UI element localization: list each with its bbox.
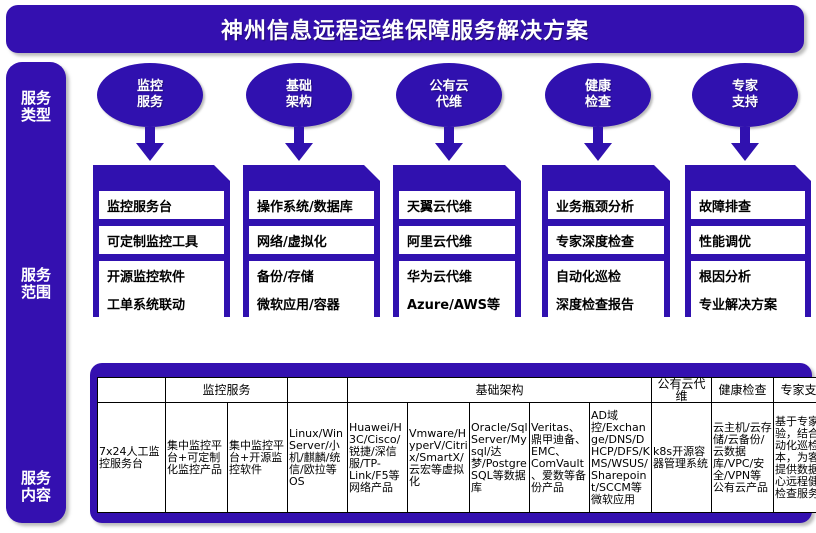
scope-item[interactable]: 可定制监控工具 xyxy=(99,226,224,254)
scope-item[interactable]: 监控服务台 xyxy=(99,191,224,219)
rail-label-line1: 服务 xyxy=(6,470,66,487)
scope-box-1: 操作系统/数据库网络/虚拟化备份/存储微软应用/容器 xyxy=(243,165,380,317)
category-label-line1: 专家 xyxy=(732,79,758,95)
scope-item-label: 操作系统/数据库 xyxy=(257,196,353,215)
arrow-head xyxy=(435,143,463,161)
scope-item[interactable]: 备份/存储 xyxy=(249,261,374,289)
scope-item[interactable]: 操作系统/数据库 xyxy=(249,191,374,219)
arrow-head xyxy=(285,143,313,161)
scope-item-label: Azure/AWS等 xyxy=(407,294,500,313)
table-cell: AD域控/Exchange/DNS/DHCP/DFS/KMS/WSUS/Shar… xyxy=(590,403,652,513)
page-title-banner: 神州信息远程运维保障服务解决方案 xyxy=(6,5,804,53)
category-label-line2: 支持 xyxy=(732,95,758,111)
flow-arrow-3 xyxy=(584,127,612,161)
flow-arrow-2 xyxy=(435,127,463,161)
table-row: 7x24人工监控服务台集中监控平台+可定制化监控产品集中监控平台+开源监控软件L… xyxy=(98,403,816,513)
scope-item-label: 工单系统联动 xyxy=(107,294,185,313)
arrow-head xyxy=(136,143,164,161)
scope-item[interactable]: 故障排查 xyxy=(691,191,805,219)
scope-box-2: 天翼云代维阿里云代维华为云代维Azure/AWS等 xyxy=(393,165,521,317)
category-label-line1: 基础 xyxy=(286,79,312,95)
table-cell: Linux/WinServer/小机/麒麟/统信/欧拉等OS xyxy=(288,403,348,513)
table-group-header: 基础架构 xyxy=(348,378,652,403)
table-header-row: 监控服务基础架构公有云代维健康检查专家支持 xyxy=(98,378,816,403)
scope-item-label: 天翼云代维 xyxy=(407,196,472,215)
rail-label-line2: 类型 xyxy=(6,107,66,124)
rail-label-service-content: 服务 内容 xyxy=(6,470,66,504)
table-cell: 基于专家经验，结合自动化巡检脚本，为客户提供数据中心远程健康检查服务 xyxy=(774,403,816,513)
rail-label-line1: 服务 xyxy=(6,267,66,284)
table-group-header-blank xyxy=(98,378,166,403)
category-ellipse-4[interactable]: 专家支持 xyxy=(692,63,798,127)
scope-item[interactable]: 微软应用/容器 xyxy=(249,289,374,317)
table-cell: Oracle/SqlServer/Mysql/达梦/PostgreSQL等数据库 xyxy=(470,403,530,513)
flow-arrow-4 xyxy=(731,127,759,161)
flow-arrow-1 xyxy=(285,127,313,161)
table-group-header-blank xyxy=(288,378,348,403)
scope-item-label: 监控服务台 xyxy=(107,196,172,215)
scope-item[interactable]: 天翼云代维 xyxy=(399,191,515,219)
table-cell: Vmware/HyperV/Citrix/SmartX/云宏等虚拟化 xyxy=(408,403,470,513)
scope-item-label: 性能调优 xyxy=(699,231,751,250)
scope-item-label: 故障排查 xyxy=(699,196,751,215)
scope-box-0: 监控服务台可定制监控工具开源监控软件工单系统联动 xyxy=(93,165,230,317)
service-content-table: 监控服务基础架构公有云代维健康检查专家支持7x24人工监控服务台集中监控平台+可… xyxy=(97,377,816,513)
category-label-line2: 架构 xyxy=(286,95,312,111)
category-label-line2: 服务 xyxy=(137,95,163,111)
scope-item[interactable]: 业务瓶颈分析 xyxy=(548,191,664,219)
table-cell: 云主机/云存储/云备份/云数据库/VPC/安全/VPN等公有云产品 xyxy=(712,403,774,513)
scope-item-label: 业务瓶颈分析 xyxy=(556,196,634,215)
scope-item-label: 专业解决方案 xyxy=(699,294,777,313)
category-label-line1: 健康 xyxy=(585,79,611,95)
category-label-line2: 代维 xyxy=(436,95,462,111)
scope-item[interactable]: 华为云代维 xyxy=(399,261,515,289)
scope-item[interactable]: 开源监控软件 xyxy=(99,261,224,289)
scope-item-label: 微软应用/容器 xyxy=(257,294,340,313)
category-label-line2: 检查 xyxy=(585,95,611,111)
scope-item-label: 阿里云代维 xyxy=(407,231,472,250)
rail-label-line2: 内容 xyxy=(6,487,66,504)
scope-item-label: 深度检查报告 xyxy=(556,294,634,313)
scope-item[interactable]: 阿里云代维 xyxy=(399,226,515,254)
scope-item-label: 可定制监控工具 xyxy=(107,231,198,250)
scope-item[interactable]: Azure/AWS等 xyxy=(399,289,515,317)
scope-item[interactable]: 性能调优 xyxy=(691,226,805,254)
table-cell: 7x24人工监控服务台 xyxy=(98,403,166,513)
table-cell: Huawei/H3C/Cisco/锐捷/深信服/TP-Link/F5等网络产品 xyxy=(348,403,408,513)
scope-item-label: 专家深度检查 xyxy=(556,231,634,250)
scope-item-label: 网络/虚拟化 xyxy=(257,231,327,250)
left-rail: 服务 类型 服务 范围 服务 内容 xyxy=(6,62,66,523)
table-cell: Veritas、鼎甲迪备、EMC、ComVault、爱数等备份产品 xyxy=(530,403,590,513)
scope-item-label: 自动化巡检 xyxy=(556,266,621,285)
scope-item[interactable]: 深度检查报告 xyxy=(548,289,664,317)
scope-item[interactable]: 专业解决方案 xyxy=(691,289,805,317)
scope-item-label: 开源监控软件 xyxy=(107,266,185,285)
table-group-header: 健康检查 xyxy=(712,378,774,403)
scope-item[interactable]: 网络/虚拟化 xyxy=(249,226,374,254)
table-group-header: 监控服务 xyxy=(166,378,288,403)
scope-box-3: 业务瓶颈分析专家深度检查自动化巡检深度检查报告 xyxy=(542,165,670,317)
rail-label-line1: 服务 xyxy=(6,90,66,107)
category-ellipse-3[interactable]: 健康检查 xyxy=(545,63,651,127)
page-title: 神州信息远程运维保障服务解决方案 xyxy=(221,13,589,45)
category-ellipse-0[interactable]: 监控服务 xyxy=(97,63,203,127)
rail-label-service-type: 服务 类型 xyxy=(6,90,66,124)
category-ellipse-2[interactable]: 公有云代维 xyxy=(396,63,502,127)
category-label-line1: 公有云 xyxy=(429,79,468,95)
scope-box-4: 故障排查性能调优根因分析专业解决方案 xyxy=(685,165,811,317)
scope-item[interactable]: 根因分析 xyxy=(691,261,805,289)
arrow-head xyxy=(731,143,759,161)
table-group-header: 专家支持 xyxy=(774,378,816,403)
scope-item-label: 备份/存储 xyxy=(257,266,314,285)
rail-label-line2: 范围 xyxy=(6,284,66,301)
diagram-root: 神州信息远程运维保障服务解决方案 服务 类型 服务 范围 服务 内容 监控服务监… xyxy=(0,0,816,533)
flow-arrow-0 xyxy=(136,127,164,161)
category-ellipse-1[interactable]: 基础架构 xyxy=(246,63,352,127)
rail-label-service-scope: 服务 范围 xyxy=(6,267,66,301)
table-group-header: 公有云代维 xyxy=(652,378,712,403)
category-label-line1: 监控 xyxy=(137,79,163,95)
table-cell: 集中监控平台+可定制化监控产品 xyxy=(166,403,228,513)
scope-item[interactable]: 专家深度检查 xyxy=(548,226,664,254)
table-cell: k8s开源容器管理系统 xyxy=(652,403,712,513)
scope-item-label: 华为云代维 xyxy=(407,266,472,285)
scope-item[interactable]: 自动化巡检 xyxy=(548,261,664,289)
scope-item-label: 根因分析 xyxy=(699,266,751,285)
scope-item[interactable]: 工单系统联动 xyxy=(99,289,224,317)
arrow-head xyxy=(584,143,612,161)
table-cell: 集中监控平台+开源监控软件 xyxy=(228,403,288,513)
